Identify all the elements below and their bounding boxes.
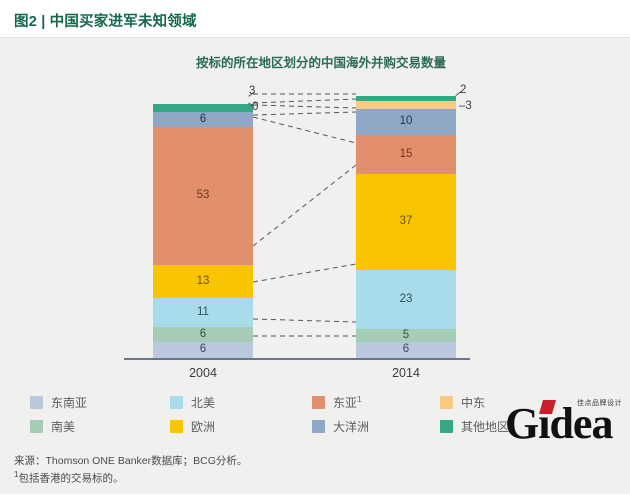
bar-segment-其他地区[interactable]: 2	[356, 96, 456, 101]
legend-label: 南美	[51, 418, 75, 435]
bar-segment-中东[interactable]: 3	[356, 101, 456, 109]
legend-item-其他地区[interactable]: 其他地区	[440, 418, 509, 435]
legend-swatch-icon	[30, 396, 43, 409]
bar-segment-value: 10	[400, 116, 413, 128]
source-line-2: 1包括香港的交易标的。	[14, 469, 247, 487]
page-title: 图2 | 中国买家进军未知领域	[14, 10, 197, 31]
source-line-1: 来源：Thomson ONE Banker数据库；BCG分析。	[14, 454, 247, 469]
bar-segment-东亚[interactable]: 53	[153, 127, 253, 264]
bar-segment-value: 11	[197, 307, 209, 319]
legend-label: 其他地区	[461, 418, 509, 435]
bar-segment-value: 6	[200, 344, 206, 356]
bar-segment-欧洲[interactable]: 37	[356, 174, 456, 270]
stacked-bar-2004[interactable]: 66111353603	[153, 104, 253, 358]
bar-segment-value: 6	[200, 329, 206, 341]
bar-segment-北美[interactable]: 23	[356, 270, 456, 330]
legend-item-南美[interactable]: 南美	[30, 418, 75, 435]
x-axis-line	[124, 358, 470, 360]
legend-label: 中东	[461, 394, 485, 411]
connector-lines	[0, 86, 630, 361]
watermark-logo: Gidea 佳点品牌设计	[505, 396, 630, 454]
legend-swatch-icon	[312, 420, 325, 433]
legend-swatch-icon	[440, 396, 453, 409]
legend-label: 东亚1	[333, 394, 361, 411]
x-tick-label-2014: 2014	[356, 366, 456, 380]
callout-2014-other-regions: 2	[460, 84, 466, 96]
legend-swatch-icon	[30, 420, 43, 433]
bar-segment-东南亚[interactable]: 6	[153, 342, 253, 358]
bar-segment-value: 6	[200, 114, 206, 126]
bar-segment-其他地区[interactable]: 3	[153, 104, 253, 112]
figure-container: 图2 | 中国买家进军未知领域 按标的所在地区划分的中国海外并购交易数量 661…	[0, 0, 630, 503]
x-tick-label-2004: 2004	[153, 366, 253, 380]
legend-item-北美[interactable]: 北美	[170, 394, 215, 411]
legend-item-欧洲[interactable]: 欧洲	[170, 418, 215, 435]
stacked-bar-2014[interactable]: 652337151032	[356, 96, 456, 358]
watermark-brand: Gidea	[505, 402, 612, 446]
bar-segment-大洋洲[interactable]: 6	[153, 112, 253, 128]
bar-segment-value: 5	[403, 330, 409, 342]
x-axis-labels: 2004 2014	[0, 366, 630, 384]
bar-segment-南美[interactable]: 6	[153, 327, 253, 343]
legend-swatch-icon	[312, 396, 325, 409]
source-note: 来源：Thomson ONE Banker数据库；BCG分析。 1包括香港的交易…	[14, 454, 247, 487]
legend-swatch-icon	[170, 396, 183, 409]
callout-2004-other-regions: 3	[249, 85, 255, 97]
plot-area: 66111353603 652337151032	[0, 86, 630, 361]
bar-segment-value: 53	[197, 190, 210, 202]
callout-2004-middle-east: 0	[252, 101, 258, 113]
bar-segment-value: 6	[403, 344, 409, 356]
legend-swatch-icon	[170, 420, 183, 433]
bar-segment-大洋洲[interactable]: 10	[356, 109, 456, 135]
callout-2014-middle-east: –3	[459, 100, 472, 112]
bar-segment-南美[interactable]: 5	[356, 329, 456, 342]
bar-segment-value: 23	[400, 294, 413, 306]
bar-segment-欧洲[interactable]: 13	[153, 265, 253, 299]
legend-item-东亚[interactable]: 东亚1	[312, 394, 361, 411]
legend-label: 大洋洲	[333, 418, 369, 435]
legend-swatch-icon	[440, 420, 453, 433]
legend-label: 东南亚	[51, 394, 87, 411]
bar-segment-东亚[interactable]: 15	[356, 135, 456, 174]
bar-segment-value: 13	[197, 276, 210, 288]
legend-label: 北美	[191, 394, 215, 411]
bar-segment-东南亚[interactable]: 6	[356, 342, 456, 358]
watermark-tagline: 佳点品牌设计	[577, 398, 622, 408]
bar-segment-北美[interactable]: 11	[153, 298, 253, 327]
chart-title: 按标的所在地区划分的中国海外并购交易数量	[0, 52, 630, 71]
footer-band	[0, 494, 630, 503]
legend-item-大洋洲[interactable]: 大洋洲	[312, 418, 369, 435]
legend-item-东南亚[interactable]: 东南亚	[30, 394, 87, 411]
legend-label: 欧洲	[191, 418, 215, 435]
bar-segment-value: 37	[400, 216, 413, 228]
legend-item-中东[interactable]: 中东	[440, 394, 485, 411]
bar-segment-value: 15	[400, 149, 413, 161]
